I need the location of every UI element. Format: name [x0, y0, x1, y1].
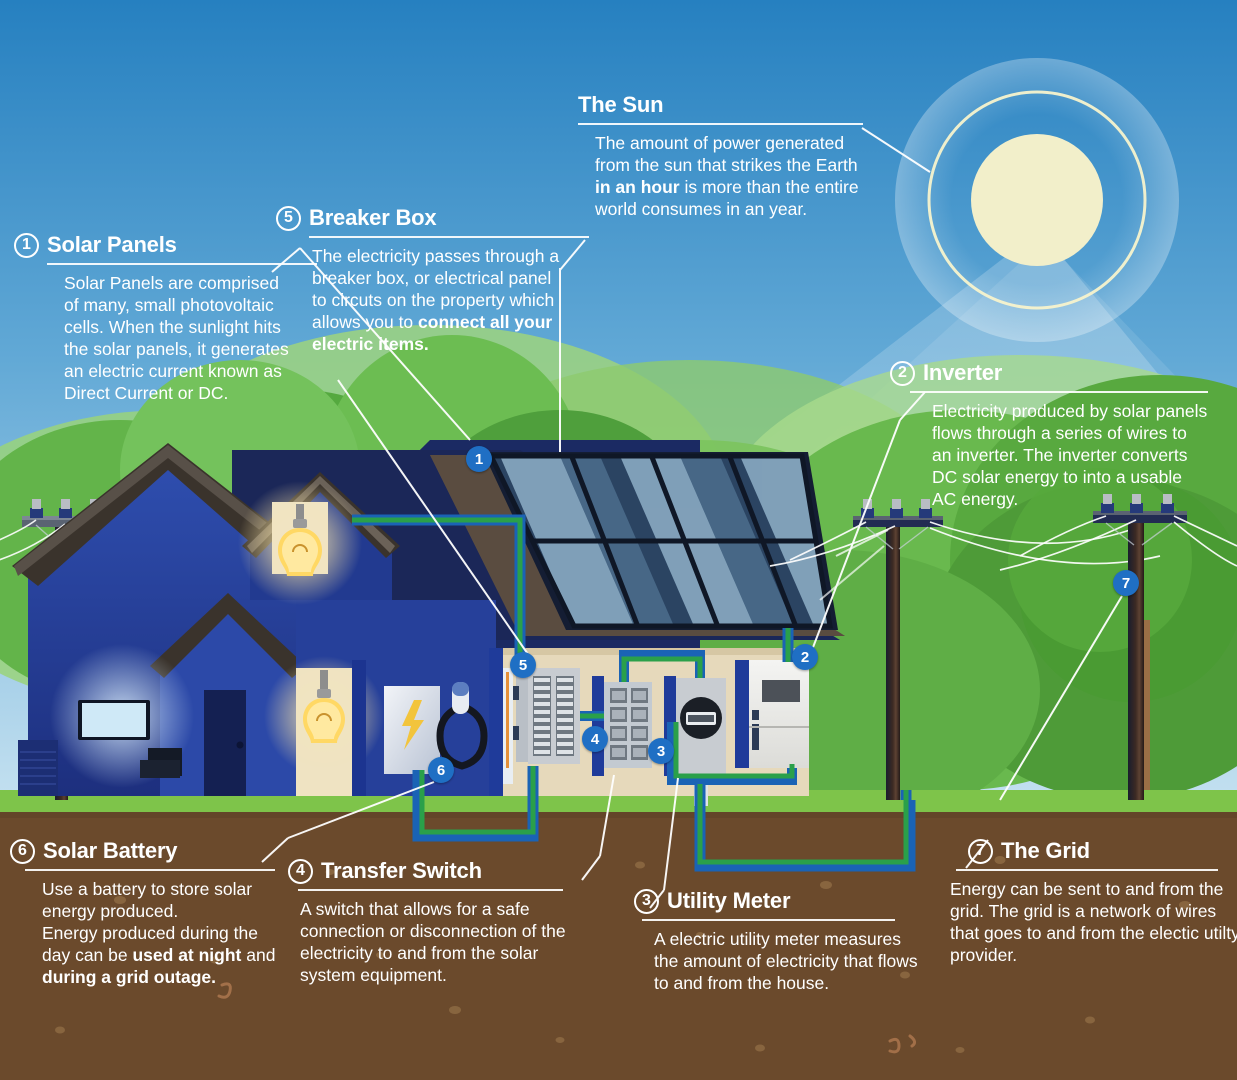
callout-number: 1 [14, 233, 39, 258]
callout-header: The Sun [578, 92, 868, 118]
callout-rule [25, 869, 275, 871]
callout-rule [298, 889, 563, 891]
callout-body: Energy can be sent to and from the grid.… [950, 878, 1237, 966]
callout-header: 5 Breaker Box [276, 205, 566, 231]
callout-breaker-box: 5 Breaker Box The electricity passes thr… [276, 205, 566, 355]
callout-title: The Grid [1001, 838, 1090, 864]
marker-transfer-switch[interactable]: 4 [582, 726, 608, 752]
marker-utility-meter[interactable]: 3 [648, 738, 674, 764]
callout-number: 6 [10, 839, 35, 864]
callout-header: 3 Utility Meter [634, 888, 924, 914]
callout-header: 4 Transfer Switch [288, 858, 570, 884]
transfer-switch-unit [592, 676, 652, 776]
callout-title: Solar Panels [47, 232, 177, 258]
callout-solar-battery: 6 Solar Battery Use a battery to store s… [10, 838, 282, 988]
marker-the-grid[interactable]: 7 [1113, 570, 1139, 596]
callout-title: Breaker Box [309, 205, 436, 231]
callout-body: A switch that allows for a safe connecti… [300, 898, 570, 986]
callout-number: 4 [288, 859, 313, 884]
callout-the-grid: 7 The Grid Energy can be sent to and fro… [968, 838, 1237, 966]
callout-title: Utility Meter [667, 888, 790, 914]
marker-solar-panels[interactable]: 1 [466, 446, 492, 472]
callout-title: Solar Battery [43, 838, 177, 864]
callout-header: 2 Inverter [890, 360, 1210, 386]
callout-number: 7 [968, 839, 993, 864]
callout-rule [578, 123, 863, 125]
callout-title: Transfer Switch [321, 858, 482, 884]
callout-body: Electricity produced by solar panels flo… [932, 400, 1210, 510]
marker-solar-battery[interactable]: 6 [428, 757, 454, 783]
callout-number: 2 [890, 361, 915, 386]
callout-solar-panels: 1 Solar Panels Solar Panels are comprise… [14, 232, 290, 404]
callout-body: The amount of power generated from the s… [595, 132, 868, 220]
callout-header: 7 The Grid [968, 838, 1237, 864]
infographic-canvas: The Sun The amount of power generated fr… [0, 0, 1237, 1080]
callout-the-sun: The Sun The amount of power generated fr… [578, 92, 868, 220]
callout-body: Use a battery to store solar energy prod… [42, 878, 282, 988]
inverter-unit [735, 660, 809, 768]
callout-body: Solar Panels are comprised of many, smal… [64, 272, 290, 404]
callout-body: A electric utility meter measures the am… [654, 928, 924, 994]
callout-body: The electricity passes through a breaker… [312, 245, 566, 355]
marker-breaker-box[interactable]: 5 [510, 652, 536, 678]
callout-inverter: 2 Inverter Electricity produced by solar… [890, 360, 1210, 510]
callout-title: Inverter [923, 360, 1002, 386]
callout-transfer-switch: 4 Transfer Switch A switch that allows f… [288, 858, 570, 986]
callout-rule [309, 236, 589, 238]
callout-header: 1 Solar Panels [14, 232, 290, 258]
callout-header: 6 Solar Battery [10, 838, 282, 864]
callout-number: 5 [276, 206, 301, 231]
callout-rule [910, 391, 1208, 393]
callout-utility-meter: 3 Utility Meter A electric utility meter… [634, 888, 924, 994]
callout-number: 3 [634, 889, 659, 914]
callout-rule [642, 919, 895, 921]
marker-inverter[interactable]: 2 [792, 644, 818, 670]
callout-title: The Sun [578, 92, 663, 118]
callout-rule [956, 869, 1218, 871]
